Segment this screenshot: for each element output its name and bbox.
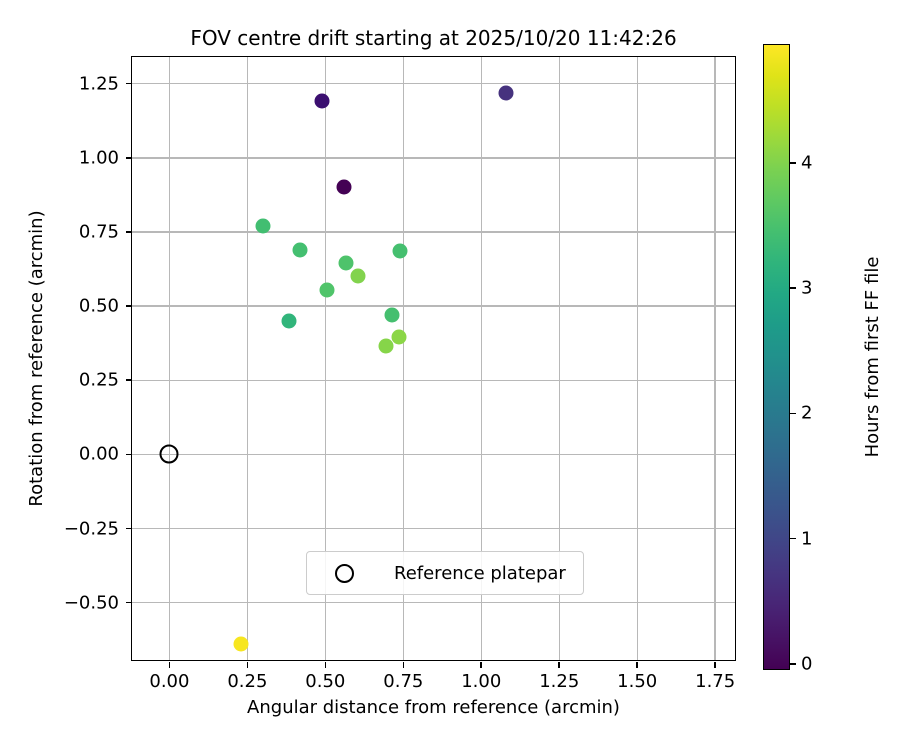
colorbar-label: Hours from first FF file — [862, 44, 883, 670]
x-axis-tick — [636, 662, 638, 668]
colorbar-gradient — [763, 44, 790, 670]
legend-entry-label: Reference platepar — [394, 563, 566, 584]
x-axis-tick — [247, 662, 249, 668]
y-axis-tick — [126, 305, 132, 307]
scatter-point — [319, 282, 334, 297]
gridline-horizontal — [132, 157, 735, 158]
x-axis-tick-label: 0.75 — [383, 671, 423, 692]
x-axis-tick-label: 0.50 — [305, 671, 345, 692]
colorbar-tick-label: 4 — [801, 152, 812, 173]
colorbar-tick — [790, 162, 796, 164]
colorbar-tick — [790, 538, 796, 540]
y-axis-tick-label: 0.50 — [79, 296, 119, 317]
y-axis-tick-label: −0.50 — [64, 592, 119, 613]
legend: Reference platepar — [306, 551, 584, 595]
x-axis-tick-label: 0.00 — [149, 671, 189, 692]
scatter-point — [385, 308, 400, 323]
reference-platepar-marker-icon — [335, 564, 354, 583]
x-axis-tick-label: 1.50 — [617, 671, 657, 692]
y-axis-label: Rotation from reference (arcmin) — [26, 56, 47, 661]
x-axis-tick-label: 1.75 — [695, 671, 735, 692]
gridline-vertical — [714, 57, 715, 660]
x-axis-tick — [403, 662, 405, 668]
figure-canvas: FOV centre drift starting at 2025/10/20 … — [0, 0, 900, 750]
y-axis-tick — [126, 454, 132, 456]
scatter-point — [234, 637, 249, 652]
y-axis-tick — [126, 602, 132, 604]
gridline-horizontal — [132, 83, 735, 84]
x-axis-tick — [714, 662, 716, 668]
y-axis-tick-label: 0.00 — [79, 444, 119, 465]
gridline-horizontal — [132, 380, 735, 381]
y-axis-tick — [126, 379, 132, 381]
y-axis-tick — [126, 157, 132, 159]
colorbar: 01234 — [763, 44, 790, 670]
colorbar-tick-label: 1 — [801, 528, 812, 549]
scatter-point — [255, 219, 270, 234]
x-axis-tick — [480, 662, 482, 668]
x-axis-tick — [325, 662, 327, 668]
x-axis-tick — [558, 662, 560, 668]
gridline-vertical — [247, 57, 248, 660]
chart-title: FOV centre drift starting at 2025/10/20 … — [131, 26, 736, 50]
y-axis-tick-label: −0.25 — [64, 518, 119, 539]
y-axis-tick — [126, 83, 132, 85]
x-axis-tick-label: 1.00 — [461, 671, 501, 692]
colorbar-tick-label: 3 — [801, 278, 812, 299]
gridline-vertical — [169, 57, 170, 660]
scatter-point — [337, 180, 352, 195]
scatter-point — [282, 313, 297, 328]
scatter-point — [351, 269, 366, 284]
y-axis-tick — [126, 528, 132, 530]
colorbar-tick — [790, 663, 796, 665]
gridline-vertical — [637, 57, 638, 660]
colorbar-tick-label: 2 — [801, 403, 812, 424]
scatter-point — [391, 330, 406, 345]
scatter-point — [499, 85, 514, 100]
gridline-horizontal — [132, 602, 735, 603]
y-axis-tick-label: 1.25 — [79, 73, 119, 94]
reference-platepar-point — [160, 445, 179, 464]
y-axis-tick-label: 0.25 — [79, 370, 119, 391]
y-axis-tick-label: 0.75 — [79, 221, 119, 242]
colorbar-tick — [790, 287, 796, 289]
gridline-horizontal — [132, 305, 735, 306]
gridline-horizontal — [132, 528, 735, 529]
colorbar-tick — [790, 413, 796, 415]
colorbar-tick-label: 0 — [801, 653, 812, 674]
y-axis-tick — [126, 231, 132, 233]
x-axis-label: Angular distance from reference (arcmin) — [131, 697, 736, 718]
x-axis-tick-label: 0.25 — [227, 671, 267, 692]
scatter-point — [315, 94, 330, 109]
y-axis-tick-label: 1.00 — [79, 147, 119, 168]
x-axis-tick-label: 1.25 — [539, 671, 579, 692]
scatter-point — [293, 242, 308, 257]
x-axis-tick — [169, 662, 171, 668]
gridline-horizontal — [132, 454, 735, 455]
scatter-point — [338, 256, 353, 271]
scatter-point — [393, 244, 408, 259]
gridline-horizontal — [132, 231, 735, 232]
